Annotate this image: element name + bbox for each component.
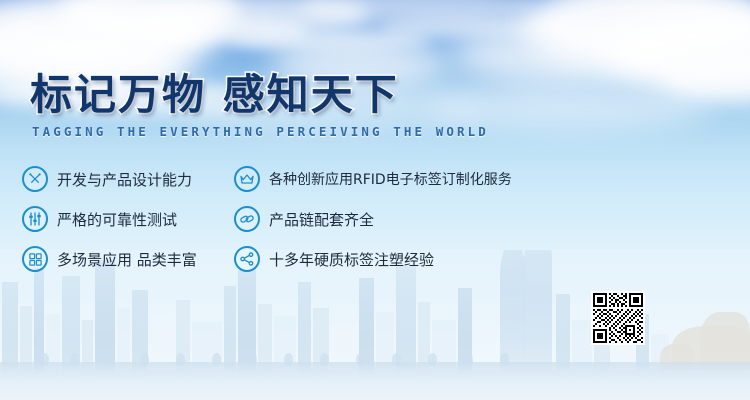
feature-item-reliability-test: 严格的可靠性测试	[22, 206, 234, 232]
feature-label: 开发与产品设计能力	[57, 169, 192, 190]
feature-item-product-chain: 产品链配套齐全	[234, 206, 634, 232]
feature-label: 多场景应用 品类丰富	[57, 249, 197, 270]
qr-code[interactable]	[591, 291, 645, 345]
feature-label: 产品链配套齐全	[269, 209, 374, 230]
page-title: 标记万物 感知天下	[30, 74, 489, 116]
feature-item-development: 开发与产品设计能力	[22, 166, 234, 192]
feature-list: 开发与产品设计能力 各种创新应用RFID电子标签订制化服务	[22, 166, 642, 286]
chain-link-icon	[234, 206, 260, 232]
feature-label: 十多年硬质标签注塑经验	[269, 249, 434, 270]
crown-icon	[234, 166, 260, 192]
feature-label: 各种创新应用RFID电子标签订制化服务	[269, 169, 512, 189]
qr-code-image	[593, 293, 643, 343]
sliders-icon	[22, 206, 48, 232]
feature-row: 严格的可靠性测试 产品链配套齐全	[22, 206, 642, 246]
promo-banner: 标记万物 感知天下 TAGGING THE EVERYTHING PERCEIV…	[0, 0, 750, 400]
feature-item-multi-scenario: 多场景应用 品类丰富	[22, 246, 234, 272]
headline-block: 标记万物 感知天下 TAGGING THE EVERYTHING PERCEIV…	[30, 74, 489, 139]
feature-item-molding-experience: 十多年硬质标签注塑经验	[234, 246, 634, 272]
feature-item-rfid-service: 各种创新应用RFID电子标签订制化服务	[234, 166, 634, 192]
feature-row: 多场景应用 品类丰富 十多年硬质标签注塑经验	[22, 246, 642, 286]
crossed-tools-icon	[22, 166, 48, 192]
feature-label: 严格的可靠性测试	[57, 209, 177, 230]
share-nodes-icon	[234, 246, 260, 272]
feature-row: 开发与产品设计能力 各种创新应用RFID电子标签订制化服务	[22, 166, 642, 206]
grid-squares-icon	[22, 246, 48, 272]
page-subtitle: TAGGING THE EVERYTHING PERCEIVING THE WO…	[32, 124, 489, 139]
